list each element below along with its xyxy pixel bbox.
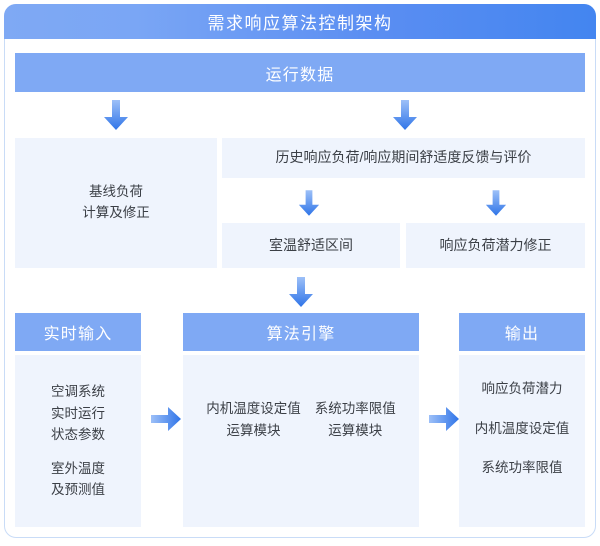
arrow-right-icon <box>151 406 181 432</box>
realtime-input-body: 空调系统 实时运行 状态参数 室外温度 及预测值 <box>15 355 141 527</box>
realtime-input-line-2: 实时运行 <box>51 403 105 425</box>
diagram-title-bar: 需求响应算法控制架构 <box>4 4 596 39</box>
output-item-2: 内机温度设定值 <box>475 418 570 440</box>
realtime-input-header: 实时输入 <box>15 313 141 351</box>
realtime-input-line-4: 室外温度 <box>51 458 105 480</box>
history-response-box: 历史响应负荷/响应期间舒适度反馈与评价 <box>222 138 585 178</box>
algorithm-engine-body: 内机温度设定值 运算模块 系统功率限值 运算模块 <box>183 355 419 527</box>
output-body: 响应负荷潜力 内机温度设定值 系统功率限值 <box>459 355 585 527</box>
baseline-load-box: 基线负荷 计算及修正 <box>15 138 217 268</box>
output-item-1: 响应负荷潜力 <box>482 378 563 400</box>
engine-module-2: 系统功率限值 运算模块 <box>315 398 396 441</box>
realtime-input-line-3: 状态参数 <box>51 424 105 446</box>
realtime-input-group-2: 室外温度 及预测值 <box>51 458 105 501</box>
diagram-root: 需求响应算法控制架构 运行数据 基线负荷 计算及修正 <box>0 0 600 546</box>
running-data-label: 运行数据 <box>266 61 335 85</box>
response-load-potential-box: 响应负荷潜力修正 <box>406 223 585 268</box>
realtime-input-line-5: 及预测值 <box>51 479 105 501</box>
engine-module-1: 内机温度设定值 运算模块 <box>206 398 301 441</box>
engine-module-1-line-2: 运算模块 <box>206 420 301 442</box>
history-response-label: 历史响应负荷/响应期间舒适度反馈与评价 <box>276 147 532 169</box>
arrow-right-icon <box>429 406 459 432</box>
realtime-input-group-1: 空调系统 实时运行 状态参数 <box>51 381 105 446</box>
page-title: 需求响应算法控制架构 <box>208 9 393 34</box>
realtime-input-header-label: 实时输入 <box>44 320 113 344</box>
engine-module-2-line-1: 系统功率限值 <box>315 398 396 420</box>
indoor-comfort-range-box: 室温舒适区间 <box>222 223 400 268</box>
baseline-load-line-1: 基线负荷 <box>82 182 150 203</box>
baseline-load-line-2: 计算及修正 <box>82 203 150 224</box>
arrow-down-icon <box>298 190 320 216</box>
engine-module-1-line-1: 内机温度设定值 <box>206 398 301 420</box>
arrow-down-icon <box>288 277 314 307</box>
output-header-label: 输出 <box>505 320 539 344</box>
response-load-potential-label: 响应负荷潜力修正 <box>440 235 552 257</box>
output-item-3: 系统功率限值 <box>482 457 563 479</box>
running-data-bar: 运行数据 <box>15 53 585 92</box>
arrow-down-icon <box>485 190 507 216</box>
arrow-down-icon <box>103 100 129 130</box>
algorithm-engine-header: 算法引擎 <box>183 313 419 351</box>
algorithm-engine-header-label: 算法引擎 <box>267 320 336 344</box>
arrow-down-icon <box>392 100 418 130</box>
engine-module-2-line-2: 运算模块 <box>315 420 396 442</box>
realtime-input-line-1: 空调系统 <box>51 381 105 403</box>
output-header: 输出 <box>459 313 585 351</box>
indoor-comfort-range-label: 室温舒适区间 <box>269 235 353 257</box>
